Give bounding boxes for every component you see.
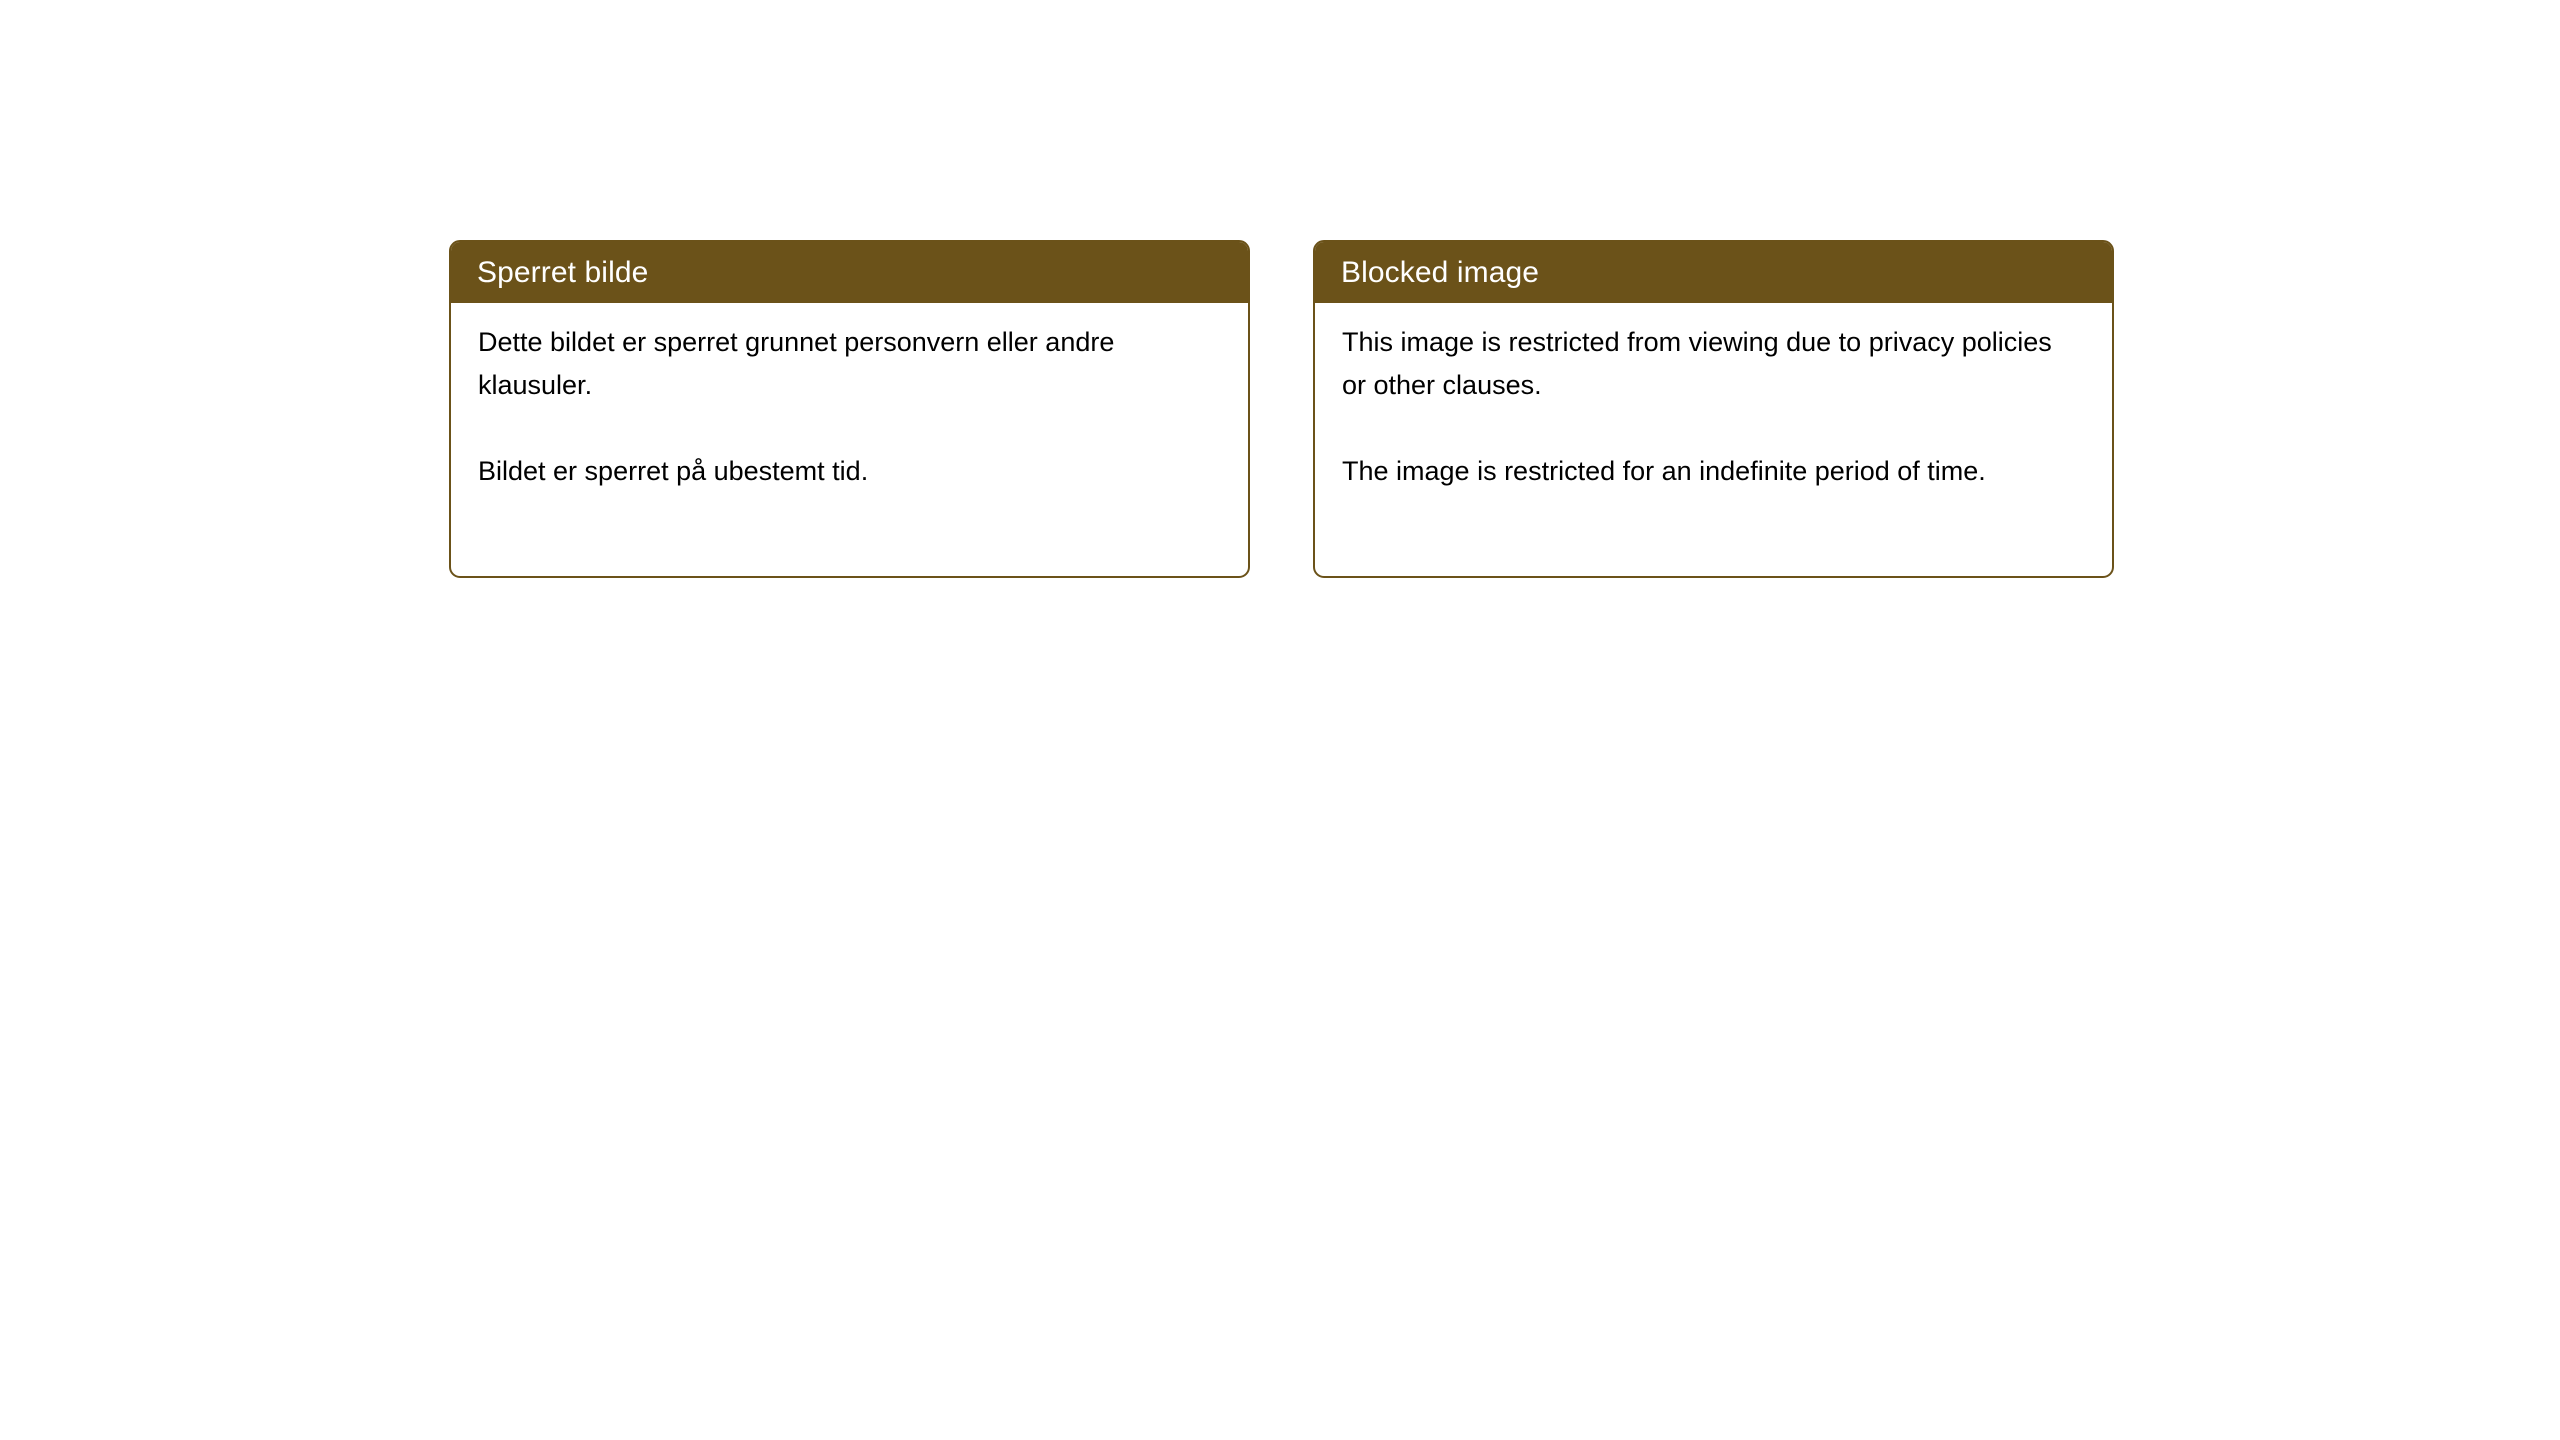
card-body-english: This image is restricted from viewing du… [1315, 303, 2112, 576]
card-paragraph-reason-english: This image is restricted from viewing du… [1342, 321, 2072, 407]
card-body-norwegian: Dette bildet er sperret grunnet personve… [451, 303, 1248, 576]
card-title-norwegian: Sperret bilde [477, 256, 648, 290]
blocked-image-notice-area: Sperret bilde Dette bildet er sperret gr… [449, 240, 2114, 578]
card-paragraph-duration-english: The image is restricted for an indefinit… [1342, 450, 2072, 493]
card-paragraph-reason-norwegian: Dette bildet er sperret grunnet personve… [478, 321, 1208, 407]
card-header-english: Blocked image [1315, 242, 2112, 303]
card-paragraph-duration-norwegian: Bildet er sperret på ubestemt tid. [478, 450, 1208, 493]
blocked-image-card-english: Blocked image This image is restricted f… [1313, 240, 2114, 578]
blocked-image-card-norwegian: Sperret bilde Dette bildet er sperret gr… [449, 240, 1250, 578]
card-header-norwegian: Sperret bilde [451, 242, 1248, 303]
card-title-english: Blocked image [1341, 256, 1539, 290]
